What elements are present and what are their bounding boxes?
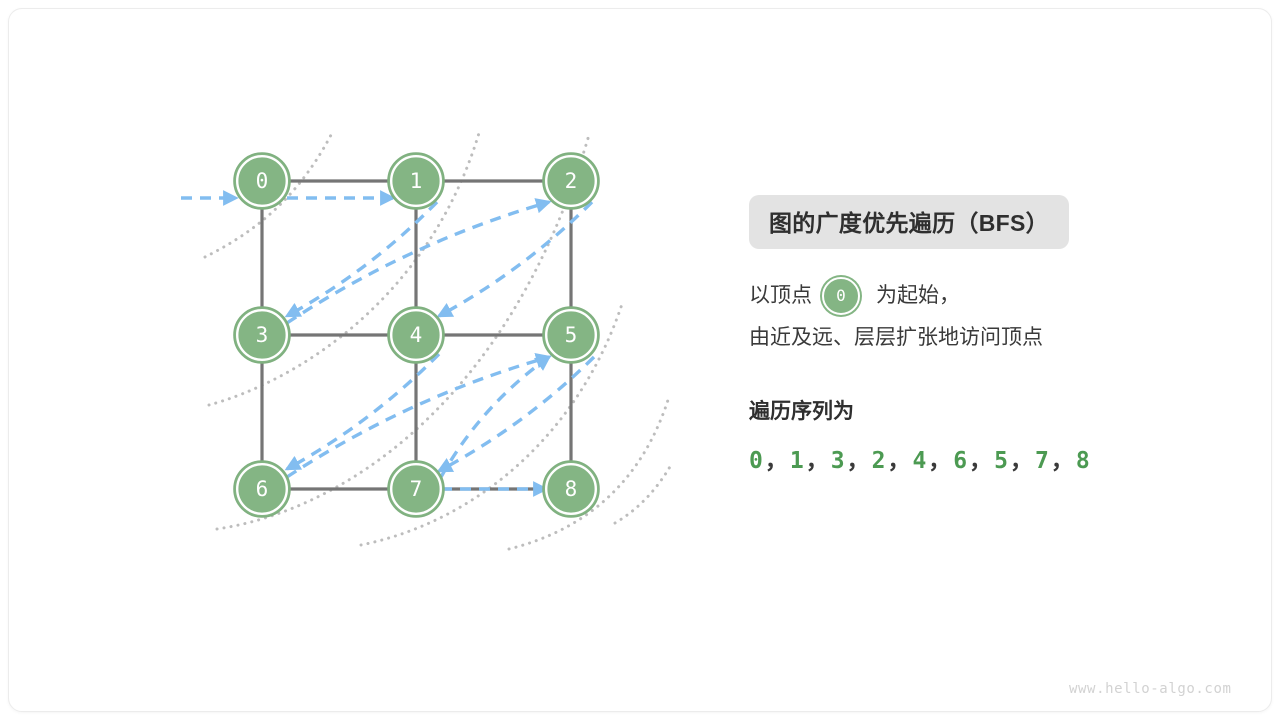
- sequence-value: 2: [872, 448, 886, 474]
- page-title: 图的广度优先遍历（BFS）: [749, 195, 1069, 249]
- layer-divider-curve: [615, 465, 671, 523]
- sequence-value: 8: [1076, 448, 1090, 474]
- bfs-arrow-1-to-4: [439, 202, 592, 316]
- sequence-separator: ，: [845, 448, 872, 474]
- watermark: www.hello-algo.com: [1069, 681, 1232, 697]
- graph-node-5[interactable]: 5: [543, 307, 599, 363]
- node-label: 8: [565, 477, 578, 501]
- description-prefix: 以顶点: [749, 281, 812, 311]
- graph-node-8[interactable]: 8: [543, 461, 599, 517]
- graph-node-1[interactable]: 1: [388, 153, 444, 209]
- start-vertex-chip: 0: [822, 277, 860, 315]
- sequence-value: 5: [994, 448, 1008, 474]
- description-line-2: 由近及远、层层扩张地访问顶点: [749, 323, 1209, 353]
- graph-node-0[interactable]: 0: [234, 153, 290, 209]
- node-label: 6: [256, 477, 269, 501]
- graph-node-4[interactable]: 4: [388, 307, 444, 363]
- graph-node-2[interactable]: 2: [543, 153, 599, 209]
- node-label: 4: [410, 323, 423, 347]
- node-label: 3: [256, 323, 269, 347]
- sequence-value: 3: [831, 448, 845, 474]
- node-label: 7: [410, 477, 423, 501]
- node-label: 1: [410, 169, 423, 193]
- traversal-sequence: 0，1，3，2，4，6，5，7，8: [749, 441, 1209, 475]
- info-panel: 图的广度优先遍历（BFS） 以顶点 0 为起始， 由近及远、层层扩张地访问顶点 …: [749, 195, 1209, 475]
- description-line-1: 以顶点 0 为起始，: [749, 277, 1209, 315]
- sequence-heading: 遍历序列为: [749, 395, 1209, 425]
- figure-stage: 012345678 图的广度优先遍历（BFS） 以顶点 0 为起始， 由近及远、…: [9, 9, 1272, 712]
- graph-node-3[interactable]: 3: [234, 307, 290, 363]
- sequence-value: 6: [953, 448, 967, 474]
- node-label: 5: [565, 323, 578, 347]
- graph-node-7[interactable]: 7: [388, 461, 444, 517]
- graph-node-6[interactable]: 6: [234, 461, 290, 517]
- sequence-value: 0: [749, 448, 763, 474]
- sequence-separator: ，: [763, 448, 790, 474]
- sequence-value: 7: [1035, 448, 1049, 474]
- sequence-separator: ，: [885, 448, 912, 474]
- node-label: 0: [256, 169, 269, 193]
- node-label: 2: [565, 169, 578, 193]
- sequence-value: 1: [790, 448, 804, 474]
- description-suffix: 为起始，: [876, 281, 960, 311]
- sequence-separator: ，: [804, 448, 831, 474]
- sequence-value: 4: [912, 448, 926, 474]
- sequence-separator: ，: [1049, 448, 1076, 474]
- graph-nodes: 012345678: [234, 153, 599, 517]
- sequence-separator: ，: [926, 448, 953, 474]
- sequence-separator: ，: [967, 448, 994, 474]
- sequence-separator: ，: [1008, 448, 1035, 474]
- figure-card: 012345678 图的广度优先遍历（BFS） 以顶点 0 为起始， 由近及远、…: [8, 8, 1272, 712]
- description-block: 以顶点 0 为起始， 由近及远、层层扩张地访问顶点: [749, 277, 1209, 353]
